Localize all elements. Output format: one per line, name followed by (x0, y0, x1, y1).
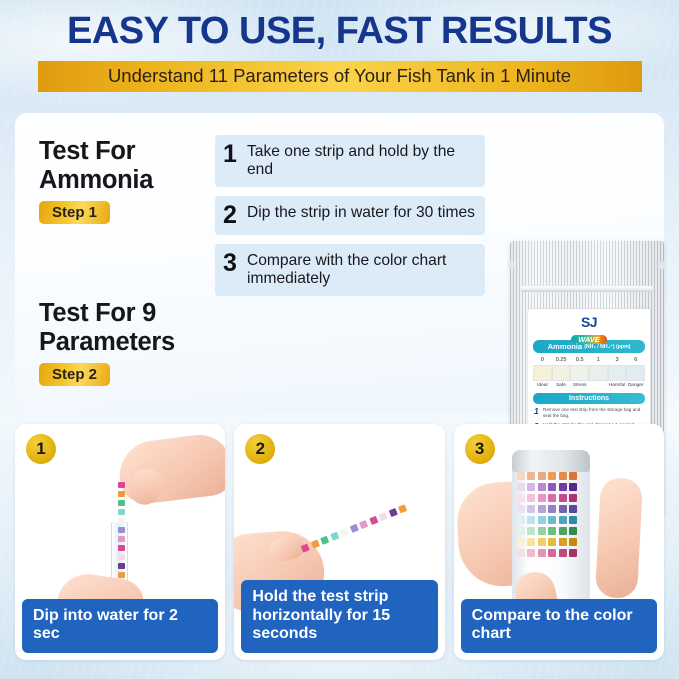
bottle-cap (512, 450, 590, 472)
section-ammonia-title-line1: Test For (39, 137, 153, 166)
tear-notch-left-icon (508, 261, 515, 269)
scale-swatch (533, 365, 552, 381)
packet-instruction-number: 1 (534, 407, 540, 419)
ammonia-formula: (NH₃ / NH₄⁺) (ppm) (584, 344, 630, 350)
chart-swatch (517, 472, 525, 480)
panel-caption-1: Dip into water for 2 sec (22, 599, 218, 653)
step-item: 1 Take one strip and hold by the end (215, 135, 485, 187)
strip-pad (118, 482, 125, 488)
scale-value: 3 (608, 357, 627, 363)
chart-swatch (569, 549, 577, 557)
scale-swatch-cell: 0.5 (570, 357, 589, 381)
fingers (595, 477, 643, 599)
scale-swatch-cell: 0.25 (552, 357, 571, 381)
chart-swatch (559, 516, 567, 524)
chart-row (517, 516, 585, 524)
bottle-color-chart (517, 472, 585, 557)
test-strip-vertical (118, 482, 125, 578)
chart-row (517, 527, 585, 535)
scale-label: Stress (570, 383, 589, 388)
scale-value: 0.5 (570, 357, 589, 363)
chart-swatch (569, 527, 577, 535)
chart-swatch (517, 505, 525, 513)
chart-swatch (538, 494, 546, 502)
chart-row (517, 549, 585, 557)
packet-instruction-text: Remove one test strip from the storage b… (543, 407, 644, 419)
strip-pad (118, 527, 125, 533)
step-text: Compare with the color chart immediately (247, 251, 476, 288)
strip-pad (118, 491, 125, 497)
chart-row (517, 538, 585, 546)
strip-pad (398, 504, 407, 513)
numbered-steps-list: 1 Take one strip and hold by the end 2 D… (215, 135, 485, 305)
chart-swatch (569, 538, 577, 546)
chart-swatch (559, 527, 567, 535)
step-2-badge: Step 2 (39, 363, 110, 386)
strip-pad (118, 536, 125, 542)
scale-value: 6 (626, 357, 645, 363)
chart-row (517, 472, 585, 480)
packet-instruction-item: 1 Remove one test strip from the storage… (534, 407, 644, 419)
strip-pad (118, 545, 125, 551)
section-parameters-title-line1: Test For 9 (39, 299, 175, 328)
scale-value: 0.25 (552, 357, 571, 363)
chart-swatch (527, 549, 535, 557)
scale-label: Safe (552, 383, 571, 388)
step-number: 3 (223, 251, 240, 275)
instructions-heading-bar: Instructions (533, 393, 645, 404)
chart-swatch (538, 538, 546, 546)
scale-swatch (626, 365, 645, 381)
chart-row (517, 505, 585, 513)
chart-swatch (559, 538, 567, 546)
chart-swatch (548, 527, 556, 535)
test-strip-horizontal (301, 504, 407, 552)
chart-swatch (569, 472, 577, 480)
chart-swatch (569, 483, 577, 491)
strip-pad (118, 500, 125, 506)
chart-swatch (517, 549, 525, 557)
ammonia-scale-labels: IdealSafeStressHarmfulDanger (533, 383, 645, 388)
scale-label: Ideal (533, 383, 552, 388)
scale-swatch-cell: 3 (608, 357, 627, 381)
strip-pad (118, 572, 125, 578)
chart-swatch (527, 505, 535, 513)
chart-swatch (517, 527, 525, 535)
chart-swatch (559, 505, 567, 513)
step-item: 2 Dip the strip in water for 30 times (215, 196, 485, 235)
scale-swatch (570, 365, 589, 381)
strip-pad (369, 516, 378, 525)
chart-swatch (548, 505, 556, 513)
usage-steps-panels: 1 Dip into water for 2 sec 2 Hold the te… (15, 424, 664, 660)
packet-seal (520, 286, 654, 292)
chart-swatch (548, 483, 556, 491)
chart-swatch (569, 516, 577, 524)
chart-row (517, 483, 585, 491)
scale-swatch-cell: 1 (589, 357, 608, 381)
chart-swatch (538, 527, 546, 535)
chart-row (517, 494, 585, 502)
chart-swatch (538, 549, 546, 557)
strip-pad (340, 528, 349, 537)
instructions-heading: Instructions (569, 395, 609, 402)
chart-swatch (527, 516, 535, 524)
chart-swatch (538, 505, 546, 513)
subtitle-banner: Understand 11 Parameters of Your Fish Ta… (38, 61, 642, 92)
chart-swatch (548, 538, 556, 546)
strip-pad (359, 520, 368, 529)
section-parameters-title-line2: Parameters (39, 328, 175, 357)
strip-pad (330, 532, 339, 541)
strip-pad (118, 518, 125, 524)
chart-swatch (517, 494, 525, 502)
header: EASY TO USE, FAST RESULTS Understand 11 … (0, 12, 679, 92)
strip-pad (118, 554, 125, 560)
chart-swatch (569, 494, 577, 502)
strip-pad (118, 509, 125, 515)
panel-badge-3: 3 (465, 434, 495, 464)
chart-swatch (538, 472, 546, 480)
instructions-card: Test For Ammonia Step 1 Test For 9 Param… (15, 113, 664, 411)
chart-swatch (527, 494, 535, 502)
brand-logo: SJ WAVE (528, 309, 650, 339)
chart-swatch (517, 483, 525, 491)
chart-swatch (569, 505, 577, 513)
scale-swatch (608, 365, 627, 381)
chart-swatch (527, 538, 535, 546)
usage-panel-hold: 2 Hold the test strip horizontally for 1… (234, 424, 444, 660)
ammonia-color-scale: 00.250.5136 (533, 357, 645, 381)
section-ammonia: Test For Ammonia Step 1 (39, 137, 153, 224)
chart-swatch (538, 516, 546, 524)
tear-notch-right-icon (659, 261, 666, 269)
ammonia-label: Ammonia (548, 342, 583, 351)
strip-pad (118, 563, 125, 569)
scale-label: Danger (626, 383, 645, 388)
chart-swatch (538, 483, 546, 491)
scale-swatch-cell: 0 (533, 357, 552, 381)
scale-swatch-cell: 6 (626, 357, 645, 381)
strip-pad (311, 540, 320, 549)
chart-swatch (548, 549, 556, 557)
subtitle-text: Understand 11 Parameters of Your Fish Ta… (108, 65, 571, 87)
chart-swatch (559, 483, 567, 491)
chart-swatch (548, 472, 556, 480)
section-parameters: Test For 9 Parameters Step 2 (39, 299, 175, 386)
step-text: Take one strip and hold by the end (247, 142, 476, 179)
step-number: 1 (223, 142, 240, 166)
scale-value: 0 (533, 357, 552, 363)
strip-pad (320, 536, 329, 545)
usage-panel-compare: 3 Compare to the color chart (454, 424, 664, 660)
strip-pad (379, 512, 388, 521)
page-title: EASY TO USE, FAST RESULTS (0, 12, 679, 52)
chart-swatch (559, 494, 567, 502)
chart-swatch (548, 494, 556, 502)
chart-swatch (527, 483, 535, 491)
scale-swatch (552, 365, 571, 381)
step-1-badge: Step 1 (39, 201, 110, 224)
panel-caption-3: Compare to the color chart (461, 599, 657, 653)
panel-badge-1: 1 (26, 434, 56, 464)
chart-swatch (527, 472, 535, 480)
chart-swatch (517, 516, 525, 524)
chart-swatch (559, 472, 567, 480)
panel-caption-2: Hold the test strip horizontally for 15 … (241, 580, 437, 653)
chart-swatch (559, 549, 567, 557)
strip-pad (389, 508, 398, 517)
usage-panel-dip: 1 Dip into water for 2 sec (15, 424, 225, 660)
logo-text-sj: SJ (528, 315, 650, 329)
strip-pad (350, 524, 359, 533)
chart-swatch (548, 516, 556, 524)
section-ammonia-title-line2: Ammonia (39, 166, 153, 195)
scale-label (589, 383, 608, 388)
chart-swatch (527, 527, 535, 535)
chart-swatch (517, 538, 525, 546)
step-text: Dip the strip in water for 30 times (247, 203, 475, 222)
step-number: 2 (223, 203, 240, 227)
scale-label: Harmful (608, 383, 627, 388)
scale-value: 1 (589, 357, 608, 363)
step-item: 3 Compare with the color chart immediate… (215, 244, 485, 296)
scale-swatch (589, 365, 608, 381)
